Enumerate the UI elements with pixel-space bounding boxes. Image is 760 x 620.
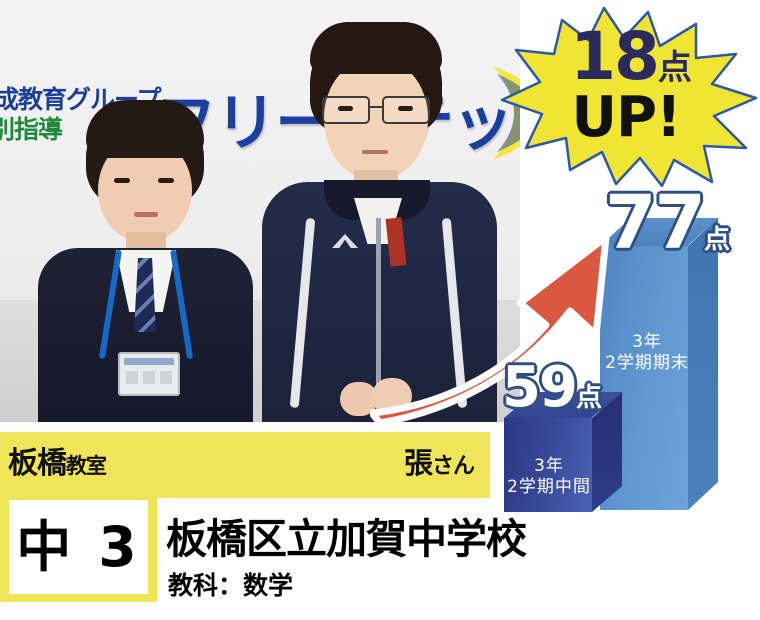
bar-term-midterm-score-unit: 点 <box>576 383 602 413</box>
student-left-eye-right <box>158 178 174 183</box>
score-up-value: 18点 <box>536 24 726 90</box>
classroom-name: 板橋 <box>8 446 66 481</box>
student-right-bangs <box>310 22 442 74</box>
bar-term-final-score-unit: 点 <box>704 225 730 255</box>
bar-term-midterm-score: 59点 <box>502 360 602 416</box>
bar-term-midterm-caption: 3年 2学期中間 <box>506 456 592 499</box>
grade-label: 中 3 <box>16 520 140 575</box>
bar-term-final-score-number: 77 <box>605 180 704 266</box>
student-right-eye-right <box>398 106 413 111</box>
bar-term-final-score: 77点 <box>605 186 730 260</box>
grade-block: 中 3 <box>0 498 157 602</box>
student-surname: 張 <box>404 446 432 480</box>
classroom-suffix: 教室 <box>66 454 106 478</box>
student-honorific: さん <box>432 454 474 479</box>
score-up-starburst-badge: 18点 UP! <box>500 2 760 187</box>
student-name-label: 張さん <box>404 440 474 482</box>
student-left <box>38 100 253 422</box>
school-name: 板橋区立加賀中学校 <box>166 505 526 565</box>
subject-label: 教科：数学 <box>168 566 293 602</box>
classroom-label: 板橋教室 <box>8 438 106 482</box>
score-up-label: UP! <box>536 90 716 146</box>
student-left-bangs <box>86 100 204 158</box>
score-up-unit: 点 <box>658 48 692 88</box>
student-left-id-badge <box>118 352 180 396</box>
grade-box: 中 3 <box>9 500 148 594</box>
score-up-number: 18 <box>570 18 658 95</box>
bar-term-midterm-score-number: 59 <box>502 355 576 420</box>
student-left-mouth <box>134 212 158 217</box>
student-right-eye-left <box>338 106 353 111</box>
info-band: 板橋教室 張さん <box>0 432 490 498</box>
student-left-eye-left <box>114 178 130 183</box>
student-right-glasses <box>320 96 432 120</box>
student-right-mouth <box>362 150 388 154</box>
score-bar-chart: 3年 2学期期末 3年 2学期中間 77点 59点 <box>480 180 760 525</box>
